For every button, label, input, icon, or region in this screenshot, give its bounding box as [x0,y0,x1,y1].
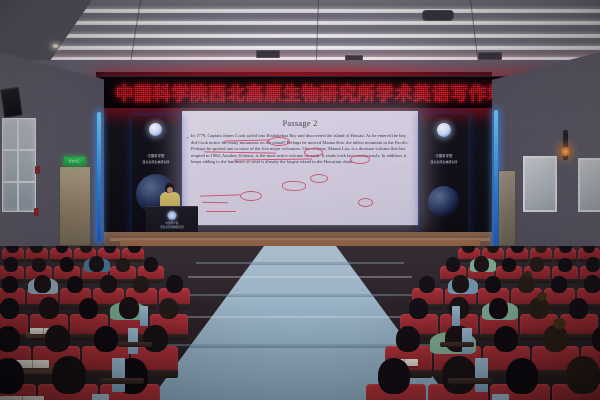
aisle-step [188,276,412,278]
audience-head [119,297,139,319]
audience-head [94,326,118,352]
institute-logo-icon [168,211,177,220]
left-banner-line2: 西北高原生物研究所 [132,161,180,164]
annotation-mark [282,181,306,191]
audience-head [159,298,178,319]
audience-head [566,356,600,394]
slide-body: ▪ In 1779, Captain James Cook sailed int… [191,133,411,166]
seat-base [140,306,148,326]
slide-title: Passage 2 [182,118,418,128]
control-booth-window [523,156,557,212]
seat-armrest [440,342,474,347]
seat-base [92,394,109,400]
left-exit-door [59,166,91,246]
led-banner: 中国科学院西北高原生物研究所学术英语写作培训 [100,76,540,108]
moon-graphic [437,123,451,137]
audience-head [4,257,18,272]
exit-sign-label: 安全出口 [68,159,80,163]
aisle-riser [178,294,422,297]
annotation-underline [206,211,236,212]
audience-head [144,257,158,272]
audience-head [584,275,600,293]
ceiling-vent [256,50,280,58]
audience-head [52,356,86,394]
seat-base [492,394,509,400]
audience-head [2,276,18,293]
annotation-circle [358,198,373,207]
seat-armrest [118,342,152,347]
fire-alarm-box [34,208,39,216]
aisle-step [166,316,434,318]
seat-base [452,306,460,326]
audience-head [506,358,538,394]
exit-sign: 安全出口 [64,157,85,165]
hair-bun [553,318,566,329]
sconce-light [560,146,571,157]
audience-head [116,258,130,272]
globe-graphic [428,186,460,218]
seat-base [462,328,472,354]
audience-head [133,276,149,293]
hair-bun [524,271,532,278]
audience-head [586,257,600,272]
audience-head [0,358,24,394]
audience-head [409,298,428,319]
audience-head [494,326,518,352]
annotation-circle [310,174,328,183]
moon-graphic [149,123,162,136]
seat-base [112,358,125,392]
fire-alarm-box [35,166,40,174]
audience-head [489,298,508,319]
audience-head [0,298,19,319]
ceiling-vent [478,52,502,60]
audience-head [452,275,469,293]
audience-head [530,257,544,272]
audience-head [89,256,104,272]
right-window [578,158,600,212]
audience-head [60,257,74,272]
hair-bun [537,292,547,301]
annotation-strikethrough [202,202,228,203]
audience-seating [0,246,600,400]
left-blue-led-strip [97,112,101,242]
left-window [2,118,36,212]
podium-line1: 中国科学院 [146,222,198,226]
audience-head [32,258,46,272]
downlight [52,44,59,48]
wall-loudspeaker [0,87,23,118]
audience-head [0,326,20,352]
audience-head [166,275,183,293]
audience-head [45,325,70,352]
audience-head [100,275,117,293]
projection-screen-frame: Passage 2 ▪ In 1779, Captain James Cook … [181,110,419,226]
slide-body-text: In 1779, Captain James Cook sailed into … [191,133,409,164]
seat-armrest [100,378,144,384]
audience-head [485,276,501,293]
lecture-hall-photo: 中国科学院西北高原生物研究所学术英语写作培训 Passage 2 ▪ In 17… [0,0,600,400]
audience-head [543,325,568,352]
open-book [0,396,44,400]
audience-head [378,358,410,394]
audience-head [502,258,516,272]
audience-head [34,275,51,293]
seat-base [475,358,488,392]
right-door [498,170,516,246]
bullet-icon: ▪ [187,135,188,141]
right-institute-banner: 中国科学院 西北高原生物研究所 [420,114,468,232]
audience-head [143,325,168,352]
seat-base [128,328,138,354]
audience-head [569,298,588,319]
right-banner-line2: 西北高原生物研究所 [420,161,468,164]
audience-head [474,256,489,272]
audience-head [67,276,83,293]
audience-head [79,298,98,319]
annotation-circle [240,191,262,201]
audience-head [419,276,435,293]
audience-head [442,356,476,394]
seat-armrest [448,378,492,384]
audience-head [446,257,460,272]
annotation-strikethrough [200,194,240,196]
right-banner-line1: 中国科学院 [420,154,468,158]
audience-head [39,297,59,319]
ceiling-speaker-grille [422,10,454,21]
left-banner-line1: 中国科学院 [132,154,180,158]
audience-head [396,326,420,352]
audience-head [551,276,567,293]
presenter-face [167,187,173,193]
audience-head [558,258,572,272]
podium-line2: 西北高原生物研究所 [146,226,198,230]
projection-screen: Passage 2 ▪ In 1779, Captain James Cook … [182,111,418,225]
aisle-riser [196,262,404,265]
led-banner-text: 中国科学院西北高原生物研究所学术英语写作培训 [115,80,524,106]
